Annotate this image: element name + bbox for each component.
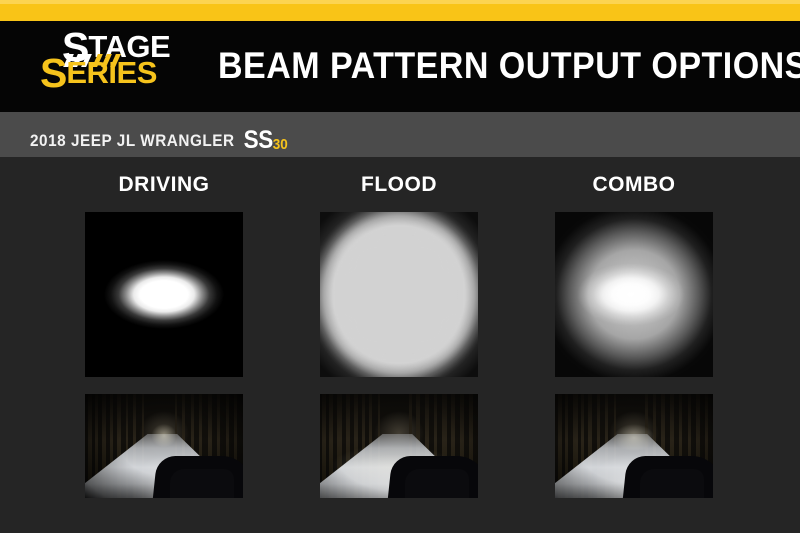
flood-beam-core	[341, 233, 458, 355]
page-title: BEAM PATTERN OUTPUT OPTIONS	[218, 47, 800, 84]
flood-beam-pattern	[320, 212, 478, 377]
driving-beam-pattern	[85, 212, 243, 377]
driving-scene	[85, 394, 243, 498]
top-accent-rule	[0, 0, 800, 21]
logo-line-series: SERIES	[40, 53, 157, 94]
photo-lower-fill	[85, 498, 243, 533]
product-model-prefix: SS	[244, 126, 273, 154]
driving-beam-glow	[85, 212, 243, 377]
combo-beam-pattern	[555, 212, 713, 377]
photo-lower-fill	[555, 498, 713, 533]
photo-lower-fill	[320, 498, 478, 533]
flood-scene	[320, 394, 478, 498]
combo-road-photo	[555, 394, 713, 533]
combo-scene	[555, 394, 713, 498]
vehicle-model-line: 2018 JEEP JL WRANGLERSS30	[30, 128, 288, 153]
stage-series-logo: STAGE SERIES	[40, 25, 190, 95]
vehicle-hood-highlight	[640, 469, 703, 498]
vehicle-hood-highlight	[170, 469, 233, 498]
driving-road-photo	[85, 394, 243, 533]
flood-road-photo	[320, 394, 478, 533]
logo-series-lead: S	[40, 50, 66, 96]
logo-series-rest: ERIES	[66, 55, 157, 90]
beam-pattern-infographic: STAGE SERIES BEAM PATTERN OUTPUT OPTIONS…	[0, 0, 800, 533]
top-accent-rule-highlight	[0, 0, 800, 4]
column-label-combo: COMBO	[555, 174, 713, 195]
vehicle-name: 2018 JEEP JL WRANGLER	[30, 131, 235, 150]
vehicle-hood-highlight	[405, 469, 468, 498]
combo-beam-glow	[555, 212, 713, 377]
column-label-flood: FLOOD	[320, 174, 478, 195]
product-model-number: 30	[273, 136, 288, 153]
column-label-driving: DRIVING	[85, 174, 243, 195]
flood-beam-glow	[320, 212, 478, 377]
